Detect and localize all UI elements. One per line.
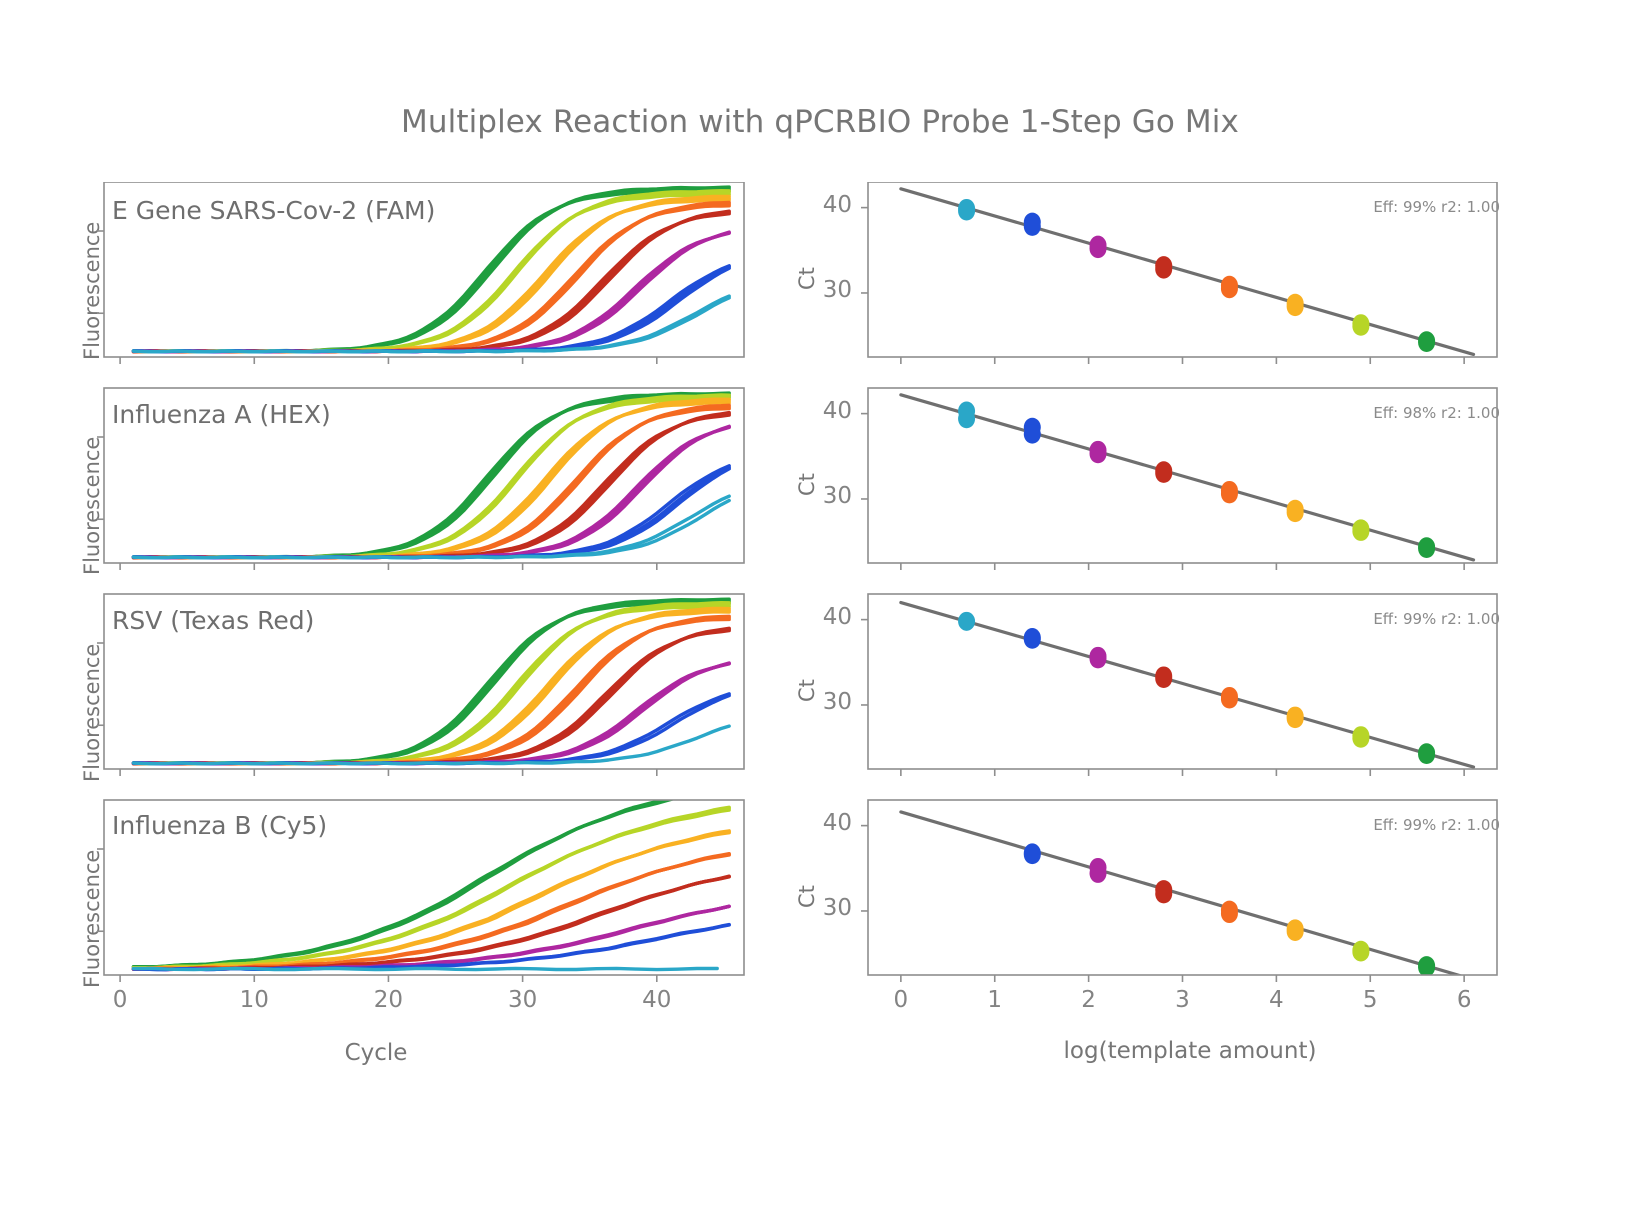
x-axis-label-cycle: Cycle xyxy=(296,1040,456,1066)
y-tick-label-ct-standard-curve-texasred-1: 40 xyxy=(772,604,852,630)
x-tick-label-log-1: 1 xyxy=(955,987,1035,1013)
figure-root: Multiplex Reaction with qPCRBIO Probe 1-… xyxy=(0,0,1640,1231)
y-tick-label-ct-standard-curve-cy5-0: 30 xyxy=(772,895,852,921)
data-point-standard-curve-cy5-2-1 xyxy=(1155,884,1172,903)
amplification-panel-amplification-cy5 xyxy=(97,785,744,982)
x-tick-label-log-3: 3 xyxy=(1143,987,1223,1013)
data-point-standard-curve-hex-5-1 xyxy=(1287,503,1304,522)
x-tick-label-cycle-0: 0 xyxy=(80,987,160,1013)
data-point-standard-curve-fam-4-1 xyxy=(1221,279,1238,298)
y-tick-label-ct-standard-curve-fam-0: 30 xyxy=(772,277,852,303)
data-point-standard-curve-cy5-5-1 xyxy=(1352,942,1369,961)
amp-curve-amplification-cy5-7 xyxy=(134,968,718,969)
figure-title: Multiplex Reaction with qPCRBIO Probe 1-… xyxy=(0,104,1640,140)
data-point-standard-curve-fam-3-1 xyxy=(1155,260,1172,279)
data-point-standard-curve-fam-7-1 xyxy=(1418,333,1435,352)
amplification-panel-amplification-texasred xyxy=(97,594,744,776)
data-point-standard-curve-cy5-1-1 xyxy=(1090,864,1107,883)
data-point-standard-curve-texasred-6-1 xyxy=(1352,729,1369,748)
regression-line-standard-curve-cy5 xyxy=(901,812,1474,980)
data-point-standard-curve-texasred-4-1 xyxy=(1221,690,1238,709)
data-point-standard-curve-cy5-6-1 xyxy=(1418,958,1435,977)
x-tick-label-log-0: 0 xyxy=(861,987,941,1013)
regression-line-standard-curve-fam xyxy=(901,189,1474,355)
data-point-standard-curve-fam-2-1 xyxy=(1090,239,1107,258)
data-point-standard-curve-fam-0-1 xyxy=(958,202,975,221)
amp-curve-amplification-texasred-5-2 xyxy=(134,663,730,764)
data-point-standard-curve-texasred-3-1 xyxy=(1155,669,1172,688)
x-tick-label-cycle-4: 40 xyxy=(617,987,697,1013)
y-tick-label-ct-standard-curve-hex-0: 30 xyxy=(772,483,852,509)
x-tick-label-log-6: 6 xyxy=(1424,987,1504,1013)
standard-curve-panel-standard-curve-hex xyxy=(861,388,1497,570)
data-point-standard-curve-hex-6-1 xyxy=(1352,522,1369,541)
x-tick-label-cycle-3: 30 xyxy=(483,987,563,1013)
x-tick-label-log-5: 5 xyxy=(1330,987,1410,1013)
data-point-standard-curve-cy5-3-1 xyxy=(1221,904,1238,923)
x-tick-label-cycle-2: 20 xyxy=(348,987,428,1013)
amplification-plots-svg xyxy=(96,182,796,1032)
data-point-standard-curve-hex-3-1 xyxy=(1155,464,1172,483)
regression-line-standard-curve-texasred xyxy=(901,603,1474,768)
standard-curve-panel-standard-curve-cy5 xyxy=(861,800,1497,982)
standard-curve-plots-svg xyxy=(860,182,1520,1032)
data-point-standard-curve-texasred-5-1 xyxy=(1287,709,1304,728)
y-tick-label-ct-standard-curve-texasred-0: 30 xyxy=(772,689,852,715)
x-axis-label-log-template: log(template amount) xyxy=(1010,1038,1370,1064)
x-tick-label-log-4: 4 xyxy=(1236,987,1316,1013)
data-point-standard-curve-hex-4-1 xyxy=(1221,484,1238,503)
data-point-standard-curve-fam-6-1 xyxy=(1352,317,1369,336)
data-point-standard-curve-hex-0-1 xyxy=(958,409,975,428)
data-point-standard-curve-cy5-4-1 xyxy=(1287,922,1304,941)
y-tick-label-ct-standard-curve-hex-1: 40 xyxy=(772,398,852,424)
amplification-panel-amplification-fam xyxy=(97,182,744,364)
data-point-standard-curve-texasred-2-1 xyxy=(1090,649,1107,668)
data-point-standard-curve-hex-7-1 xyxy=(1418,539,1435,558)
x-tick-label-log-2: 2 xyxy=(1049,987,1129,1013)
data-point-standard-curve-hex-2-1 xyxy=(1090,444,1107,463)
amplification-panel-amplification-hex xyxy=(97,388,744,570)
standard-curve-panel-standard-curve-fam xyxy=(861,182,1497,364)
y-tick-label-ct-standard-curve-cy5-1: 40 xyxy=(772,810,852,836)
data-point-standard-curve-hex-1-1 xyxy=(1024,425,1041,444)
data-point-standard-curve-fam-1-1 xyxy=(1024,217,1041,236)
axis-box-standard-curve-cy5 xyxy=(868,800,1497,975)
regression-line-standard-curve-hex xyxy=(901,395,1474,560)
y-tick-label-ct-standard-curve-fam-1: 40 xyxy=(772,192,852,218)
data-point-standard-curve-fam-5-1 xyxy=(1287,297,1304,316)
standard-curve-panel-standard-curve-texasred xyxy=(861,594,1497,776)
data-point-standard-curve-texasred-1-1 xyxy=(1024,630,1041,649)
data-point-standard-curve-cy5-0-1 xyxy=(1024,845,1041,864)
x-tick-label-cycle-1: 10 xyxy=(214,987,294,1013)
data-point-standard-curve-texasred-0-0 xyxy=(958,612,975,631)
data-point-standard-curve-texasred-7-1 xyxy=(1418,745,1435,764)
